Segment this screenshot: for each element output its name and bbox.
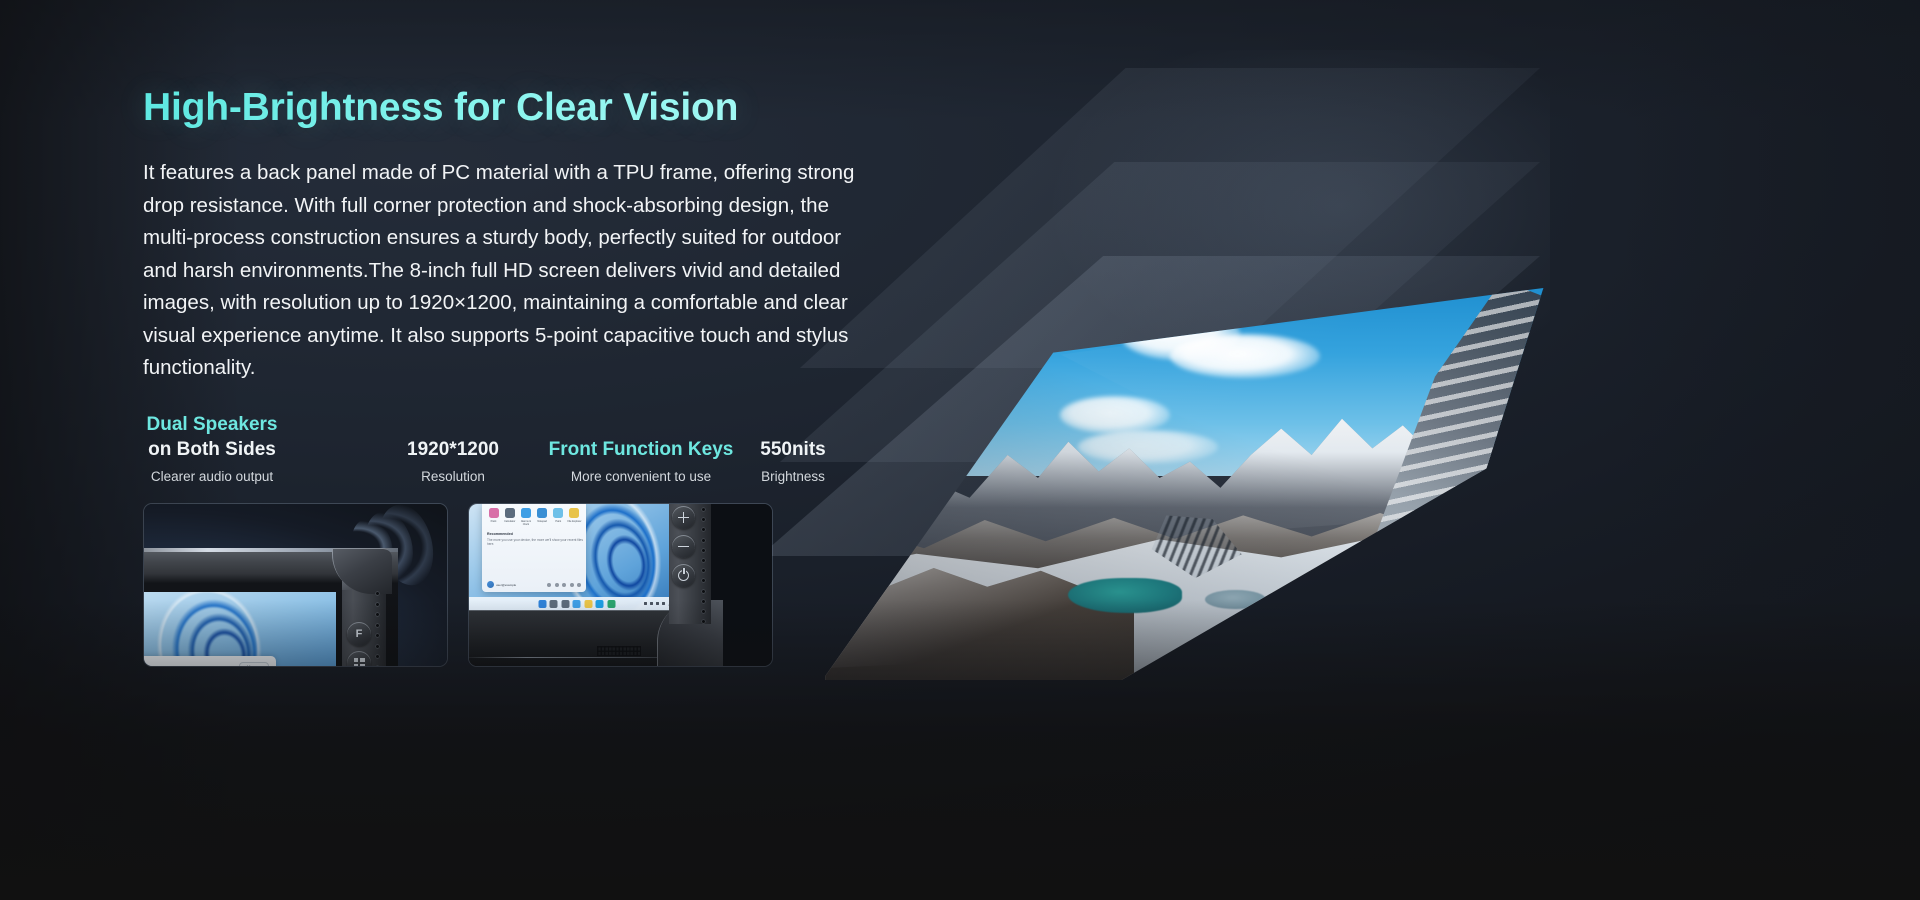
app-label: Alarms & Clock: [518, 520, 533, 526]
product-feature-banner: High-Brightness for Clear Vision It feat…: [0, 0, 1920, 900]
spec-item-front-function-keys: Front Function Keys More convenient to u…: [543, 437, 739, 484]
account-row[interactable]: user@example: [487, 581, 516, 588]
app-label: Notepad: [535, 520, 550, 523]
calculator-icon: [505, 508, 515, 518]
windows-start-menu: Paint Calculator Alarms & Clock Not: [482, 504, 586, 592]
start-menu-app[interactable]: Paint: [551, 508, 566, 526]
recommended-heading: Recommended: [487, 532, 513, 536]
spec-title: 550nits: [756, 437, 830, 462]
account-name: user@example: [496, 583, 516, 587]
spec-title-line1: 1920*1200: [407, 439, 499, 460]
start-menu-app[interactable]: Alarms & Clock: [518, 508, 533, 526]
avatar: [487, 581, 494, 588]
start-menu-power-row: [547, 583, 581, 587]
volume-down-button[interactable]: [672, 535, 695, 558]
spec-highlights: Dual Speakers on Both Sides Clearer audi…: [143, 408, 843, 488]
spec-item-resolution: 1920*1200 Resolution: [401, 437, 505, 484]
power-icon: [678, 570, 689, 581]
spec-title: Dual Speakers on Both Sides: [143, 412, 281, 462]
network-icon[interactable]: [570, 583, 574, 587]
start-menu-app[interactable]: Calculator: [502, 508, 517, 526]
app-label: Paint: [486, 520, 501, 523]
spec-title-line1: Front Function Keys: [549, 439, 734, 460]
app-label: File Explorer: [567, 520, 582, 523]
power-button[interactable]: [672, 564, 695, 587]
plus-icon: [678, 512, 689, 523]
settings-icon[interactable]: [562, 583, 566, 587]
volume-up-button[interactable]: [672, 506, 695, 529]
file-explorer-icon: [569, 508, 579, 518]
start-menu-app[interactable]: File Explorer: [567, 508, 582, 526]
start-menu-pinned-apps: Paint Calculator Alarms & Clock Not: [486, 508, 582, 526]
spec-title-line1: Dual Speakers: [147, 414, 278, 435]
tablet-screen: Paint Calculator Alarms & Clock Not: [469, 504, 684, 610]
spec-title-line2: on Both Sides: [148, 439, 276, 460]
description-paragraph: It features a back panel made of PC mate…: [143, 157, 855, 385]
power-icon[interactable]: [577, 583, 581, 587]
pictures-icon[interactable]: [555, 583, 559, 587]
spec-title: 1920*1200: [401, 437, 505, 462]
spec-item-dual-speakers: Dual Speakers on Both Sides Clearer audi…: [143, 412, 281, 484]
page-title: High-Brightness for Clear Vision: [143, 86, 903, 130]
app-label: Paint: [551, 520, 566, 523]
alarms-clock-icon: [521, 508, 531, 518]
paint-icon: [553, 508, 563, 518]
minus-icon: [678, 541, 689, 552]
spec-subtitle: Resolution: [401, 469, 505, 484]
notepad-icon: [537, 508, 547, 518]
start-menu-app[interactable]: Paint: [486, 508, 501, 526]
background-bottom-fade: [0, 600, 1920, 900]
spec-subtitle: More convenient to use: [543, 469, 739, 484]
paint-icon: [489, 508, 499, 518]
text-column: High-Brightness for Clear Vision It feat…: [143, 0, 903, 385]
documents-icon[interactable]: [547, 583, 551, 587]
start-menu-app[interactable]: Notepad: [535, 508, 550, 526]
spec-subtitle: Brightness: [756, 469, 830, 484]
spec-title: Front Function Keys: [543, 437, 739, 462]
spec-subtitle: Clearer audio output: [143, 469, 281, 484]
app-label: Calculator: [502, 520, 517, 523]
spec-title-line1: 550nits: [760, 439, 825, 460]
recommended-empty-text: The more you use your device, the more w…: [487, 538, 586, 546]
spec-item-brightness: 550nits Brightness: [756, 437, 830, 484]
